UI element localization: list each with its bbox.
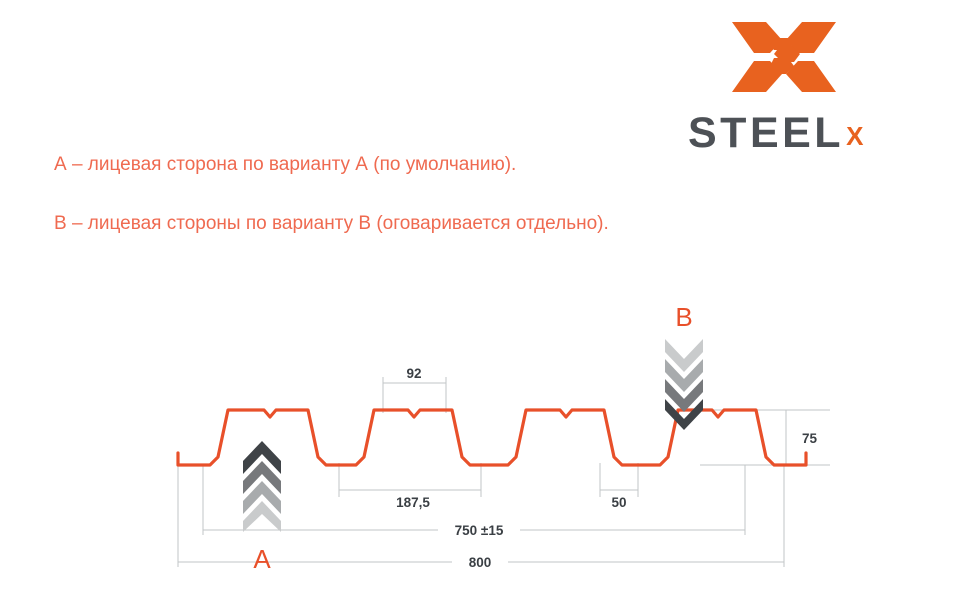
chevron-up-icon-group: [243, 441, 281, 532]
wordmark-x: X: [846, 123, 863, 149]
chevron-down-icon-group: [665, 339, 703, 430]
caption-variant-b: В – лицевая стороны по варианту В (огова…: [54, 214, 774, 235]
wordmark-steel: STEEL: [688, 112, 844, 155]
brand-wordmark: STEEL X: [688, 112, 903, 152]
caption-block: А – лицевая сторона по варианту А (по ум…: [54, 155, 774, 235]
dimension-label-50: 50: [611, 495, 626, 510]
marker-a: A: [243, 441, 281, 574]
brand-logo: STEEL X: [688, 18, 903, 148]
profile-drawing: A B 92 187,5 50 75 750 ±15 800: [0, 285, 970, 597]
marker-a-label: A: [253, 544, 271, 574]
caption-variant-a: А – лицевая сторона по варианту А (по ум…: [54, 155, 774, 176]
dimension-label-800: 800: [469, 555, 492, 570]
steelx-x-mark-icon: [730, 18, 838, 96]
dimension-label-75: 75: [802, 431, 818, 446]
marker-b: B: [665, 302, 703, 430]
dimension-label-750: 750 ±15: [455, 523, 504, 538]
dimension-label-92: 92: [406, 366, 421, 381]
marker-b-label: B: [675, 302, 692, 332]
dimension-label-187-5: 187,5: [396, 495, 430, 510]
